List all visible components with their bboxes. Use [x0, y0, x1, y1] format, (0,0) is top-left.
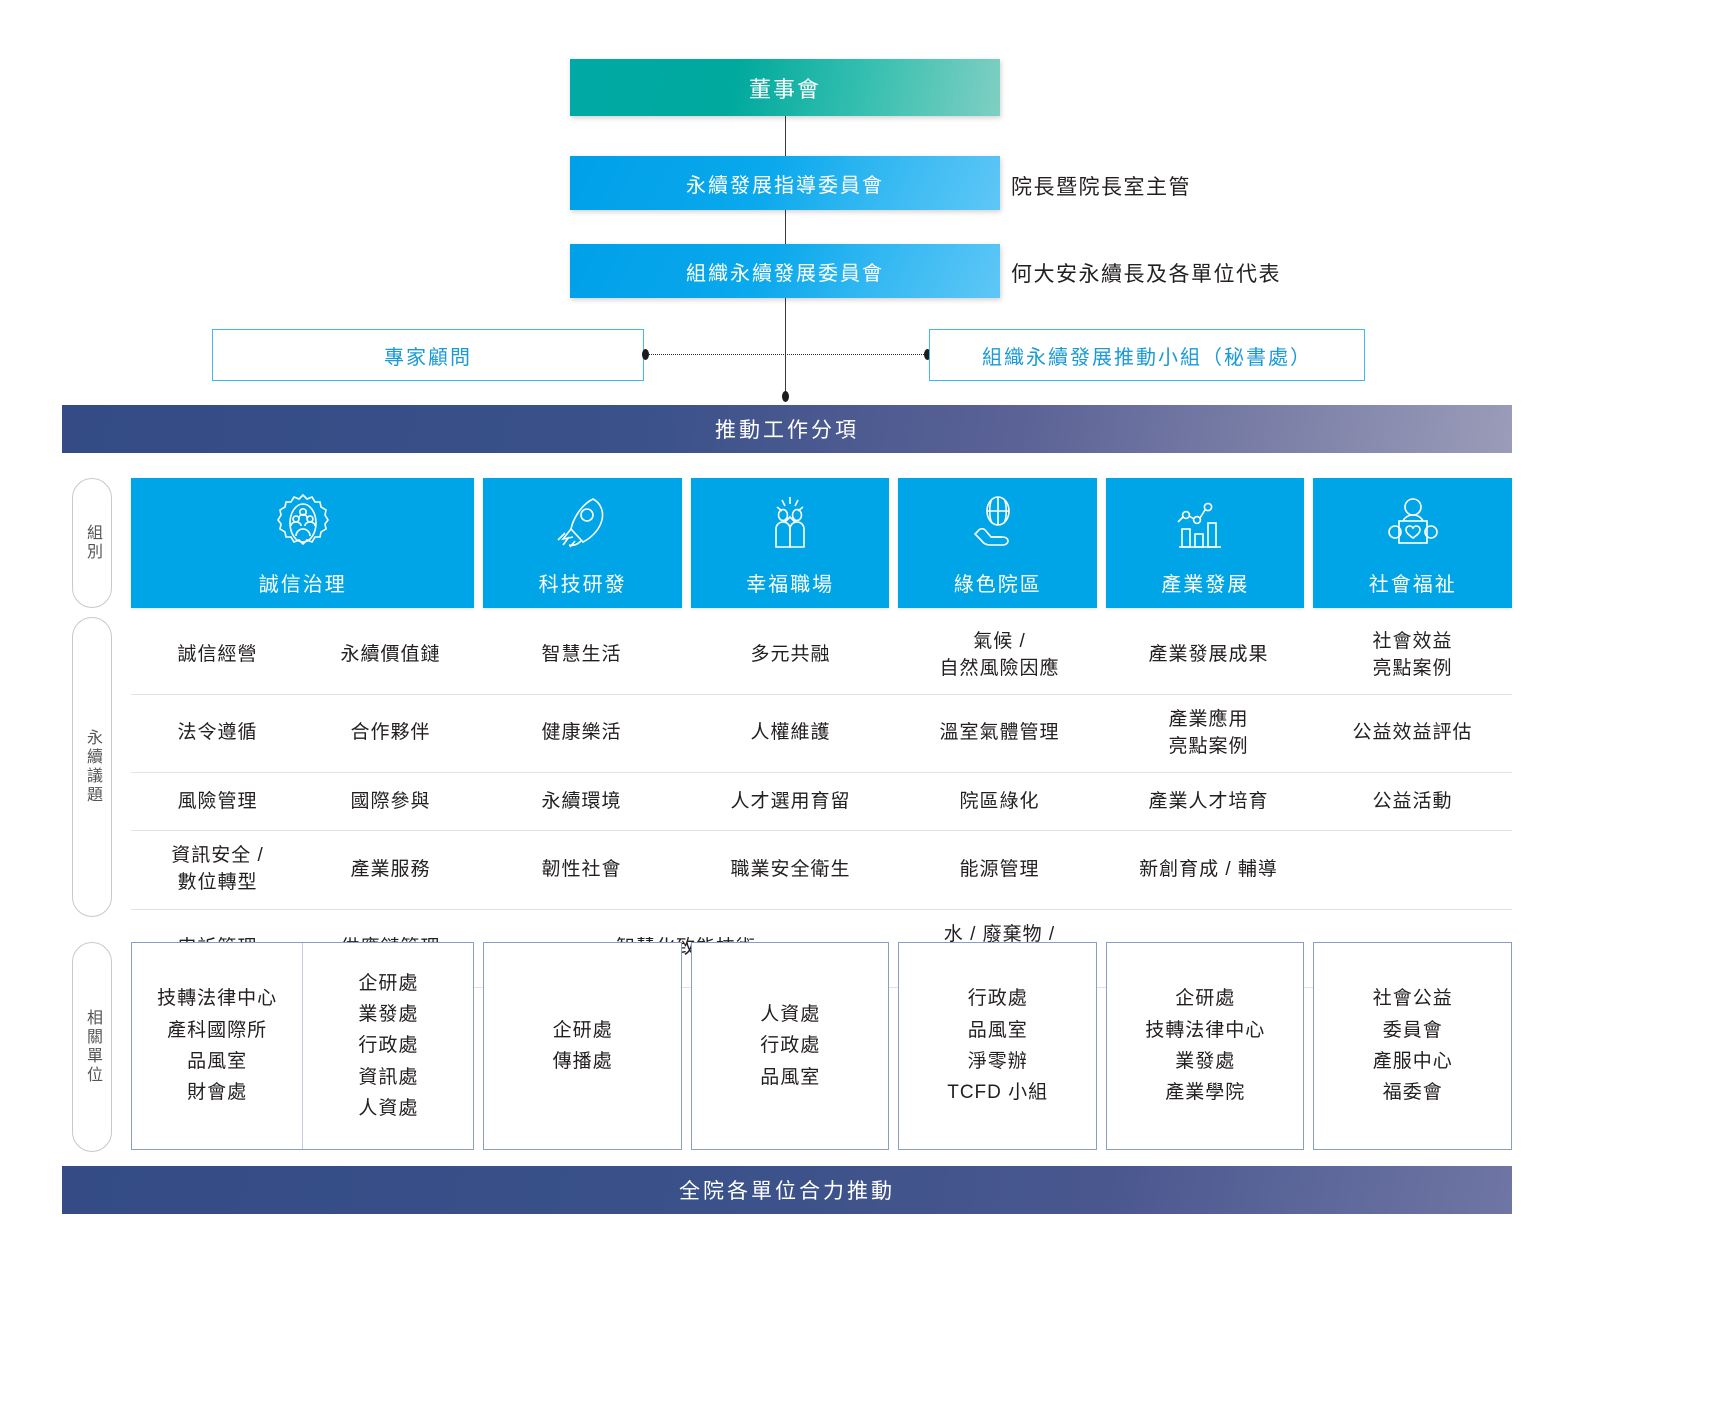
unit-card-5: 企研處技轉法律中心業發處產業學院: [1106, 942, 1305, 1150]
topic-cell-0-0: 誠信經營: [131, 617, 304, 695]
steering-committee-label: 永續發展指導委員會: [686, 169, 884, 198]
group-cell-3[interactable]: 幸福職場: [691, 478, 890, 608]
topic-cell-2-0: 風險管理: [131, 773, 304, 831]
topic-cell-0-6: 社會效益亮點案例: [1313, 617, 1512, 695]
topic-cell-2-3: 人才選用育留: [686, 773, 895, 831]
group-label: 社會福祉: [1369, 568, 1457, 597]
topic-cell-0-3: 多元共融: [686, 617, 895, 695]
unit-list: 行政處品風室淨零辦TCFD 小組: [899, 943, 1096, 1149]
unit-list: 企研處傳播處: [484, 943, 681, 1149]
expert-advisor-box: 專家顧問: [212, 329, 644, 381]
group-cell-6[interactable]: 社會福祉: [1313, 478, 1512, 608]
topic-cell-2-5: 產業人才培育: [1104, 773, 1313, 831]
unit-card-2: 企研處傳播處: [483, 942, 682, 1150]
rail-label-topics: 永續議題: [72, 617, 112, 917]
unit-card-3: 人資處行政處品風室: [691, 942, 890, 1150]
group-cell-5[interactable]: 產業發展: [1106, 478, 1305, 608]
group-header-area: 誠信治理 科技研發 幸福職場 綠色院區 產業發展: [131, 478, 1512, 608]
org-committee-box: 組織永續發展委員會: [570, 244, 1000, 298]
rail-units-text: 相關單位: [82, 1009, 102, 1085]
sustainability-governance-diagram: 董事會 永續發展指導委員會 院長暨院長室主管 組織永續發展委員會 何大安永續長及…: [0, 0, 1722, 1417]
topic-cell-3-1: 產業服務: [304, 831, 477, 909]
topic-cell-1-6: 公益效益評估: [1313, 695, 1512, 773]
group-label: 綠色院區: [954, 568, 1042, 597]
unit-card-4: 行政處品風室淨零辦TCFD 小組: [898, 942, 1097, 1150]
unit-card-1: 技轉法律中心產科國際所品風室財會處企研處業發處行政處資訊處人資處: [131, 942, 474, 1150]
org-committee-note: 何大安永續長及各單位代表: [1011, 258, 1281, 288]
unit-list: 企研處業發處行政處資訊處人資處: [302, 943, 473, 1149]
unit-list-text: 技轉法律中心產科國際所品風室財會處: [157, 983, 277, 1108]
rail-label-units: 相關單位: [72, 942, 112, 1152]
rail-label-group: 組別: [72, 478, 112, 608]
topic-cell-1-1: 合作夥伴: [304, 695, 477, 773]
unit-list: 技轉法律中心產科國際所品風室財會處: [132, 943, 302, 1149]
bar-line-chart-icon: [1173, 478, 1237, 568]
unit-list-text: 人資處行政處品風室: [760, 999, 820, 1093]
work-items-banner: 推動工作分項: [62, 405, 1512, 453]
topic-cell-0-4: 氣候 /自然風險因應: [895, 617, 1104, 695]
topic-cell-1-0: 法令遵循: [131, 695, 304, 773]
expert-advisor-label: 專家顧問: [384, 341, 472, 370]
topic-cell-1-5: 產業應用亮點案例: [1104, 695, 1313, 773]
topic-cell-0-2: 智慧生活: [477, 617, 686, 695]
connector-board-steering: [785, 116, 786, 156]
topic-cell-2-4: 院區綠化: [895, 773, 1104, 831]
topic-cell-0-1: 永續價值鏈: [304, 617, 477, 695]
unit-list-text: 行政處品風室淨零辦TCFD 小組: [947, 983, 1048, 1108]
connector-org-down: [785, 298, 786, 398]
topic-cell-3-4: 能源管理: [895, 831, 1104, 909]
group-label: 幸福職場: [746, 568, 834, 597]
group-cell-2[interactable]: 科技研發: [483, 478, 682, 608]
board-box: 董事會: [570, 59, 1000, 116]
steering-committee-box: 永續發展指導委員會: [570, 156, 1000, 210]
topics-row: 法令遵循合作夥伴健康樂活人權維護溫室氣體管理產業應用亮點案例公益效益評估: [131, 695, 1512, 773]
steering-committee-note: 院長暨院長室主管: [1011, 171, 1191, 201]
topics-row: 風險管理國際參與永續環境人才選用育留院區綠化產業人才培育公益活動: [131, 773, 1512, 831]
group-label: 誠信治理: [259, 568, 347, 597]
connector-steering-org: [785, 210, 786, 244]
advisor-secretariat-link: [645, 354, 928, 355]
board-label: 董事會: [749, 72, 821, 104]
group-cell-4[interactable]: 綠色院區: [898, 478, 1097, 608]
unit-list-text: 企研處技轉法律中心業發處產業學院: [1145, 983, 1265, 1108]
topic-cell-1-3: 人權維護: [686, 695, 895, 773]
group-label: 產業發展: [1161, 568, 1249, 597]
rail-topics-text: 永續議題: [82, 729, 102, 805]
unit-list-text: 企研處傳播處: [553, 1015, 613, 1078]
all-units-banner-label: 全院各單位合力推動: [679, 1175, 895, 1205]
topic-cell-2-1: 國際參與: [304, 773, 477, 831]
topic-cell-3-5: 新創育成 / 輔導: [1104, 831, 1313, 909]
unit-list-text: 社會公益委員會產服中心福委會: [1373, 983, 1453, 1108]
topic-cell-1-4: 溫室氣體管理: [895, 695, 1104, 773]
topic-cell-3-0: 資訊安全 /數位轉型: [131, 831, 304, 909]
topic-cell-1-2: 健康樂活: [477, 695, 686, 773]
topics-row: 誠信經營永續價值鏈智慧生活多元共融氣候 /自然風險因應產業發展成果社會效益亮點案…: [131, 617, 1512, 695]
connector-end-dot: [782, 391, 789, 402]
rail-group-text: 組別: [82, 524, 102, 562]
sustainability-topics-table: 誠信經營永續價值鏈智慧生活多元共融氣候 /自然風險因應產業發展成果社會效益亮點案…: [131, 617, 1512, 988]
link-left-dot: [642, 349, 649, 360]
topic-cell-3-3: 職業安全衛生: [686, 831, 895, 909]
unit-card-6: 社會公益委員會產服中心福委會: [1313, 942, 1512, 1150]
work-items-banner-label: 推動工作分項: [715, 414, 859, 444]
topic-cell-2-2: 永續環境: [477, 773, 686, 831]
group-row: 誠信治理 科技研發 幸福職場 綠色院區 產業發展: [131, 478, 1512, 608]
globe-in-hand-icon: [966, 478, 1030, 568]
unit-list: 人資處行政處品風室: [692, 943, 889, 1149]
topic-cell-3-6: [1313, 831, 1512, 909]
group-cell-1[interactable]: 誠信治理: [131, 478, 474, 608]
org-committee-label: 組織永續發展委員會: [686, 257, 884, 286]
people-celebrate-icon: [758, 478, 822, 568]
gear-people-icon: [271, 478, 335, 568]
person-heart-sign-icon: [1381, 478, 1445, 568]
group-label: 科技研發: [539, 568, 627, 597]
rocket-icon: [551, 478, 615, 568]
topic-cell-3-2: 韌性社會: [477, 831, 686, 909]
secretariat-box: 組織永續發展推動小組（秘書處）: [929, 329, 1365, 381]
secretariat-label: 組織永續發展推動小組（秘書處）: [982, 341, 1312, 370]
related-units-row: 技轉法律中心產科國際所品風室財會處企研處業發處行政處資訊處人資處企研處傳播處人資…: [131, 942, 1512, 1150]
topics-row: 資訊安全 /數位轉型產業服務韌性社會職業安全衛生能源管理新創育成 / 輔導: [131, 831, 1512, 909]
unit-list-text: 企研處業發處行政處資訊處人資處: [358, 968, 418, 1125]
unit-list: 企研處技轉法律中心業發處產業學院: [1107, 943, 1304, 1149]
topic-cell-2-6: 公益活動: [1313, 773, 1512, 831]
unit-list: 社會公益委員會產服中心福委會: [1314, 943, 1511, 1149]
all-units-banner: 全院各單位合力推動: [62, 1166, 1512, 1214]
topic-cell-0-5: 產業發展成果: [1104, 617, 1313, 695]
